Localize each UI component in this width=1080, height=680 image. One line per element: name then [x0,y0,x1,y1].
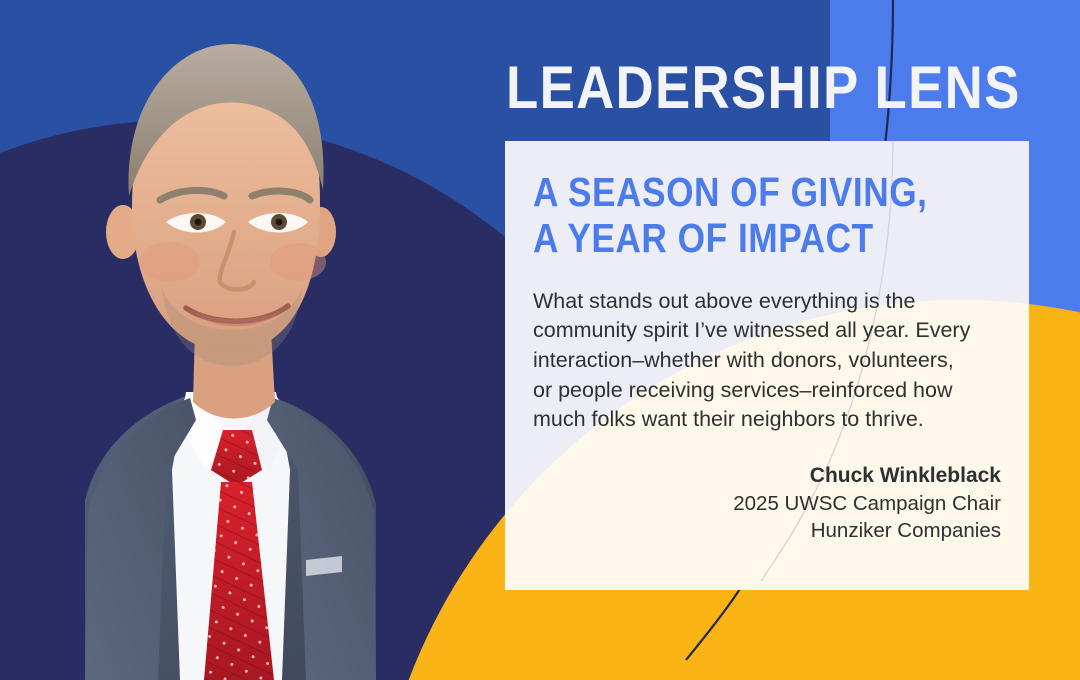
portrait-illustration [0,0,460,680]
headline-line-1: A SEASON OF GIVING, [533,169,927,215]
portrait-photo [0,0,460,680]
headline: A SEASON OF GIVING, A YEAR OF IMPACT [533,141,935,262]
portrait-figure [85,44,376,680]
attribution-organization: Hunziker Companies [533,517,1001,544]
headline-line-2: A YEAR OF IMPACT [533,215,874,261]
attribution-name: Chuck Winkleblack [533,462,1001,490]
page-title: LEADERSHIP LENS [506,58,964,118]
quote-card: A SEASON OF GIVING, A YEAR OF IMPACT Wha… [505,141,1029,590]
attribution-role: 2025 UWSC Campaign Chair [533,490,1001,517]
quote-text: What stands out above everything is the … [533,262,973,435]
social-graphic-canvas: LEADERSHIP LENS A SEASON OF GIVING, A YE… [0,0,1080,680]
attribution: Chuck Winkleblack 2025 UWSC Campaign Cha… [533,435,1001,544]
quote-card-content: A SEASON OF GIVING, A YEAR OF IMPACT Wha… [505,141,1029,545]
